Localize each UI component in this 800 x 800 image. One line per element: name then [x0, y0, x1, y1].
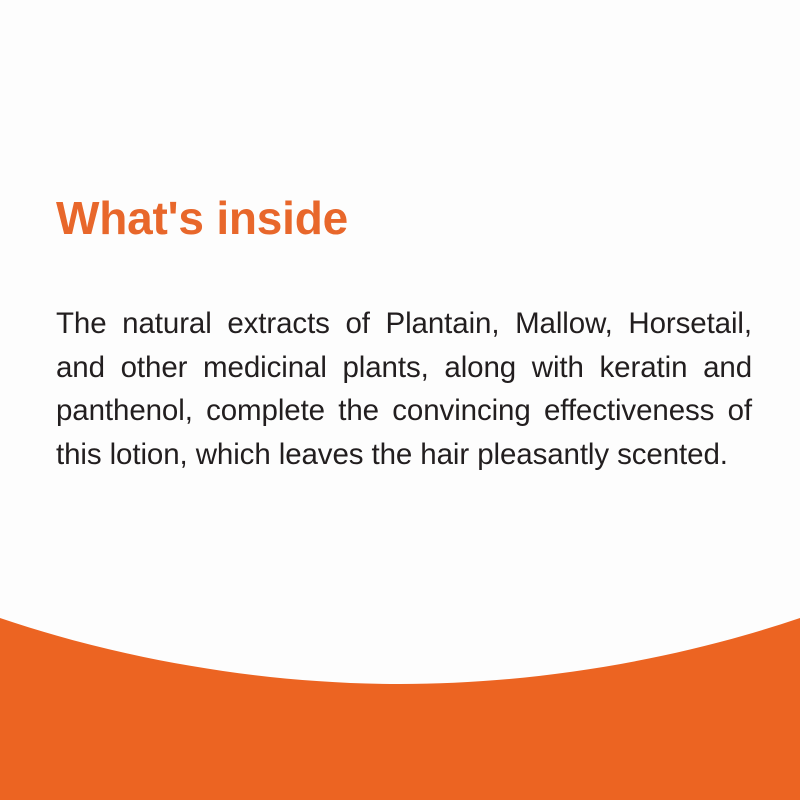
page-title: What's inside [56, 192, 750, 244]
bottom-curve-decoration [0, 600, 800, 800]
body-paragraph: The natural extracts of Plantain, Mallow… [56, 302, 752, 476]
product-info-slide: What's inside The natural extracts of Pl… [0, 0, 800, 800]
orange-arc-shape [0, 618, 800, 800]
